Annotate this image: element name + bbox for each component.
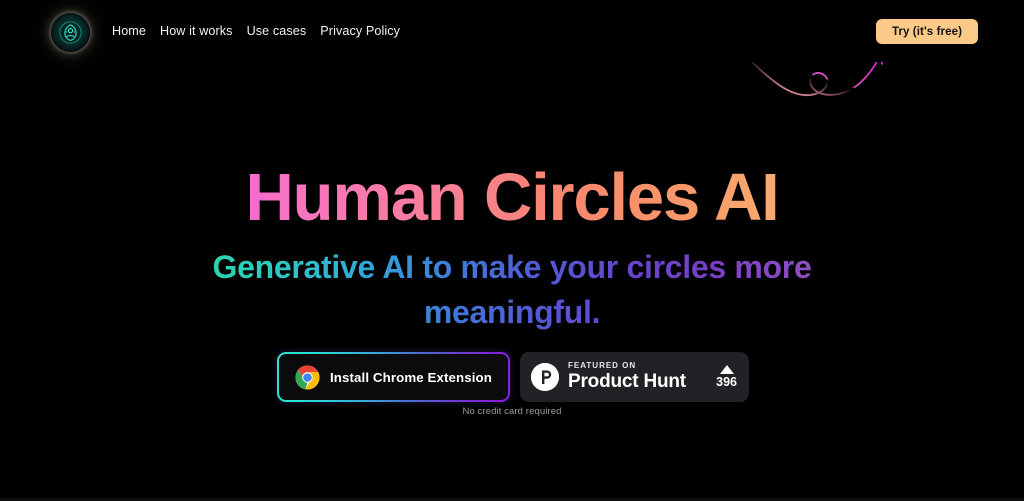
brand-logo[interactable] — [51, 13, 90, 52]
nav-link-privacy-policy[interactable]: Privacy Policy — [320, 24, 400, 39]
product-hunt-featured-label: FEATURED ON — [568, 361, 707, 371]
product-hunt-upvote[interactable]: 396 — [716, 365, 737, 389]
nav-link-home[interactable]: Home — [112, 24, 146, 39]
primary-nav: Home How it works Use cases Privacy Poli… — [112, 24, 400, 39]
chrome-icon — [295, 365, 320, 390]
product-hunt-upvote-count: 396 — [716, 375, 737, 389]
install-button-inner: Install Chrome Extension — [279, 354, 508, 400]
nav-link-use-cases[interactable]: Use cases — [247, 24, 307, 39]
hero-section: Human Circles AI Generative AI to make y… — [0, 0, 1024, 501]
product-hunt-text: FEATURED ON Product Hunt — [568, 361, 707, 393]
page-title: Human Circles AI — [0, 163, 1024, 233]
install-chrome-extension-button[interactable]: Install Chrome Extension — [277, 352, 510, 402]
nav-link-how-it-works[interactable]: How it works — [160, 24, 233, 39]
product-hunt-icon — [531, 363, 559, 391]
upvote-triangle-icon — [720, 365, 734, 374]
try-free-button[interactable]: Try (it's free) — [876, 19, 978, 44]
hero-subtitle: Generative AI to make your circles more … — [187, 245, 837, 335]
site-header: Home How it works Use cases Privacy Poli… — [0, 0, 1024, 62]
product-hunt-name: Product Hunt — [568, 371, 707, 393]
no-credit-card-note: No credit card required — [0, 406, 1024, 417]
human-circles-emblem-icon — [58, 20, 83, 45]
cta-row: Install Chrome Extension FEATURED ON Pro… — [277, 352, 749, 402]
product-hunt-badge[interactable]: FEATURED ON Product Hunt 396 — [520, 352, 749, 402]
install-button-label: Install Chrome Extension — [330, 370, 492, 385]
